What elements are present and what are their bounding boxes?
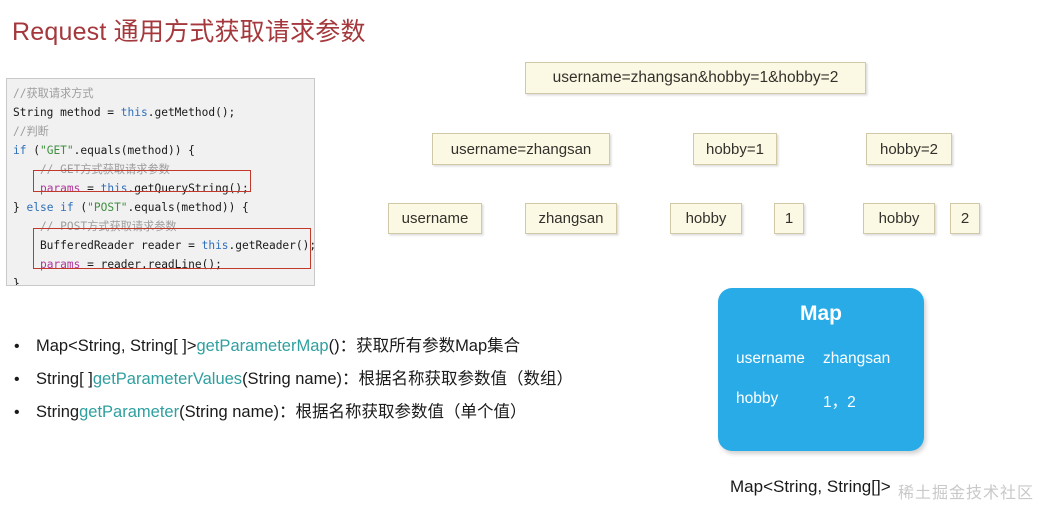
code-token: .equals(method)) { bbox=[128, 201, 249, 214]
code-token: // GET方式获取请求参数 bbox=[13, 163, 170, 176]
code-line: // GET方式获取请求参数 bbox=[13, 160, 308, 179]
flow-box-pair-username: username=zhangsan bbox=[432, 133, 610, 165]
page-title: Request 通用方式获取请求参数 bbox=[12, 12, 366, 48]
map-title: Map bbox=[718, 302, 924, 326]
method-list-item: •String getParameter(String name)：根据名称获取… bbox=[14, 396, 674, 429]
bullet-dot-icon: • bbox=[14, 397, 36, 429]
code-token: .getMethod(); bbox=[148, 106, 236, 119]
code-token: ( bbox=[26, 144, 39, 157]
code-token: "GET" bbox=[40, 144, 74, 157]
flow-box-query-string: username=zhangsan&hobby=1&hobby=2 bbox=[525, 62, 866, 94]
method-return-type: Map<String, String[ ]> bbox=[36, 330, 197, 362]
code-snippet-panel: //获取请求方式String method = this.getMethod()… bbox=[6, 78, 315, 286]
map-caption: Map<String, String[]> bbox=[730, 477, 891, 497]
map-illustration: Map username zhangsan hobby 1，2 bbox=[718, 288, 924, 451]
code-token: ( bbox=[74, 201, 87, 214]
flow-box-value-hobby-b: 2 bbox=[950, 203, 980, 234]
map-entry-value: 1，2 bbox=[823, 390, 924, 412]
code-token bbox=[13, 182, 40, 195]
code-line: //获取请求方式 bbox=[13, 84, 308, 103]
bullet-dot-icon: • bbox=[14, 364, 36, 396]
flow-box-key-hobby-a: hobby bbox=[670, 203, 742, 234]
code-token: this bbox=[202, 239, 229, 252]
code-line: String method = this.getMethod(); bbox=[13, 103, 308, 122]
code-line: if ("GET".equals(method)) { bbox=[13, 141, 308, 160]
code-token: if bbox=[13, 144, 26, 157]
code-token: .getReader(); bbox=[229, 239, 315, 252]
method-description: (String name)：根据名称获取参数值（数组） bbox=[242, 363, 573, 395]
code-token: String bbox=[13, 106, 53, 119]
code-token: this bbox=[101, 182, 128, 195]
code-token: params bbox=[40, 258, 80, 271]
method-list-item: •String[ ] getParameterValues(String nam… bbox=[14, 363, 674, 396]
method-list: •Map<String, String[ ]> getParameterMap(… bbox=[14, 330, 674, 429]
code-line: //判断 bbox=[13, 122, 308, 141]
map-entry-row: hobby 1，2 bbox=[718, 390, 924, 412]
code-token: } bbox=[13, 277, 20, 286]
map-entry-value: zhangsan bbox=[823, 350, 924, 368]
code-token: = reader.readLine(); bbox=[80, 258, 221, 271]
code-line: params = this.getQueryString(); bbox=[13, 179, 308, 198]
flow-box-key-hobby-b: hobby bbox=[863, 203, 935, 234]
code-line: BufferedReader reader = this.getReader()… bbox=[13, 236, 308, 255]
code-token: params bbox=[40, 182, 80, 195]
method-name: getParameterMap bbox=[197, 330, 329, 362]
flow-box-key-username: username bbox=[388, 203, 482, 234]
method-name: getParameter bbox=[79, 396, 179, 428]
method-list-item: •Map<String, String[ ]> getParameterMap(… bbox=[14, 330, 674, 363]
code-token: // POST方式获取请求参数 bbox=[13, 220, 177, 233]
method-return-type: String[ ] bbox=[36, 363, 93, 395]
method-return-type: String bbox=[36, 396, 79, 428]
code-token: method = bbox=[53, 106, 120, 119]
map-entry-row: username zhangsan bbox=[718, 350, 924, 368]
code-token: //判断 bbox=[13, 125, 49, 138]
flow-box-pair-hobby-1: hobby=1 bbox=[693, 133, 777, 165]
code-token: "POST" bbox=[87, 201, 127, 214]
code-token: .getQueryString(); bbox=[128, 182, 249, 195]
code-line: } else if ("POST".equals(method)) { bbox=[13, 198, 308, 217]
method-name: getParameterValues bbox=[93, 363, 242, 395]
code-line: // POST方式获取请求参数 bbox=[13, 217, 308, 236]
code-token: else if bbox=[26, 201, 73, 214]
code-token: //获取请求方式 bbox=[13, 87, 94, 100]
flow-box-value-zhangsan: zhangsan bbox=[525, 203, 617, 234]
code-line: } bbox=[13, 274, 308, 286]
flow-box-pair-hobby-2: hobby=2 bbox=[866, 133, 952, 165]
code-token: this bbox=[121, 106, 148, 119]
code-line: params = reader.readLine(); bbox=[13, 255, 308, 274]
map-entry-key: hobby bbox=[718, 390, 823, 412]
method-description: (String name)：根据名称获取参数值（单个值） bbox=[179, 396, 526, 428]
code-token bbox=[13, 258, 40, 271]
code-token: BufferedReader reader = bbox=[13, 239, 202, 252]
code-token: } bbox=[13, 201, 26, 214]
watermark-text: 稀土掘金技术社区 bbox=[898, 479, 1034, 503]
method-description: ()：获取所有参数Map集合 bbox=[329, 330, 521, 362]
code-token: .equals(method)) { bbox=[74, 144, 195, 157]
code-token: = bbox=[80, 182, 100, 195]
map-entry-key: username bbox=[718, 350, 823, 368]
flow-box-value-hobby-a: 1 bbox=[774, 203, 804, 234]
bullet-dot-icon: • bbox=[14, 331, 36, 363]
